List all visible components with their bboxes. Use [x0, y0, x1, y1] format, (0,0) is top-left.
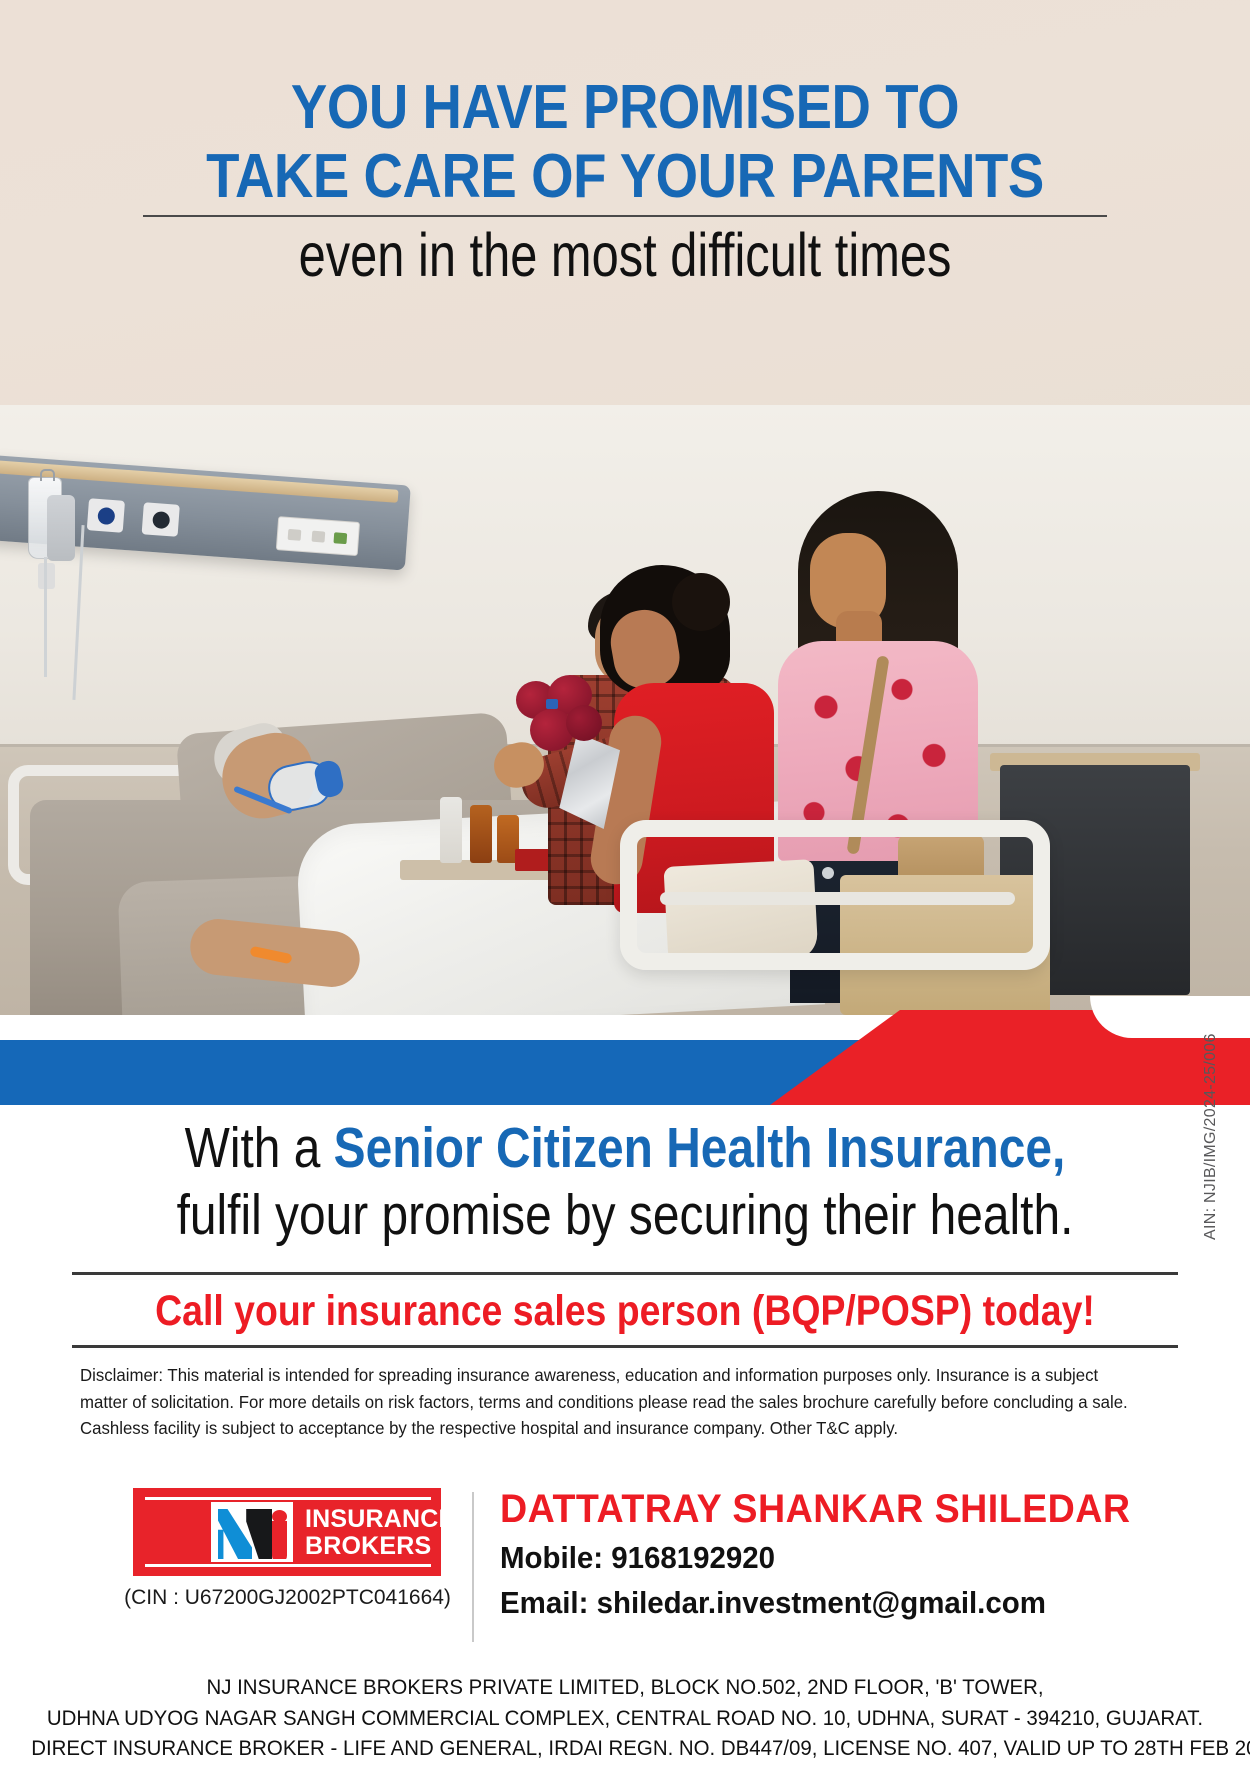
footer-line-2: UDHNA UDYOG NAGAR SANGH COMMERCIAL COMPL…: [31, 1703, 1219, 1734]
nj-insurance-brokers-logo: INSURANCE BROKERS: [133, 1488, 441, 1576]
brand-agent-divider: [472, 1492, 474, 1642]
agent-email[interactable]: Email: shiledar.investment@gmail.com: [500, 1585, 1046, 1621]
logo-wordmark-line-1: INSURANCE: [305, 1506, 435, 1533]
monogram-j-stem: [272, 1521, 287, 1559]
rose: [566, 705, 602, 741]
monogram-inner: [214, 1505, 290, 1559]
bed-rail-bar: [660, 892, 1015, 905]
message-divider-top: [72, 1272, 1178, 1275]
header-section: YOU HAVE PROMISED TO TAKE CARE OF YOUR P…: [0, 0, 1250, 452]
cin-number: (CIN : U67200GJ2002PTC041664): [110, 1586, 465, 1610]
logo-rule-top: [145, 1497, 431, 1500]
agent-mobile[interactable]: Mobile: 9168192920: [500, 1540, 775, 1576]
footer-line-3: DIRECT INSURANCE BROKER - LIFE AND GENER…: [31, 1733, 1219, 1764]
bouquet-ribbon: [546, 699, 558, 709]
headline-line-2: TAKE CARE OF YOUR PARENTS: [75, 143, 1175, 212]
message-line-1-prefix: With a: [185, 1116, 334, 1180]
message-line-2: fulfil your promise by securing their he…: [100, 1182, 1150, 1249]
subheadline: even in the most difficult times: [125, 219, 1125, 292]
logo-rule-bottom: [145, 1564, 431, 1567]
vacuum-port-icon: [142, 502, 180, 537]
disclaimer-text: Disclaimer: This material is intended fo…: [80, 1362, 1131, 1442]
message-line-1: With a Senior Citizen Health Insurance,: [100, 1115, 1150, 1182]
message-divider-bottom: [72, 1345, 1178, 1348]
logo-wordmark: INSURANCE BROKERS: [305, 1506, 435, 1559]
rose-bouquet-icon: [510, 675, 620, 787]
agent-email-value[interactable]: shiledar.investment@gmail.com: [597, 1585, 1046, 1620]
company-address-footer: NJ INSURANCE BROKERS PRIVATE LIMITED, BL…: [31, 1672, 1219, 1764]
agent-mobile-value[interactable]: 9168192920: [611, 1540, 775, 1575]
iv-tube: [44, 557, 47, 677]
insurance-poster: YOU HAVE PROMISED TO TAKE CARE OF YOUR P…: [0, 0, 1250, 1780]
girl-hair-bun: [672, 573, 730, 631]
call-to-action: Call your insurance sales person (BQP/PO…: [81, 1287, 1169, 1336]
ain-code: AIN: NJIB/IMG/2024-25/006: [1202, 1033, 1220, 1240]
nj-monogram-icon: [211, 1502, 293, 1562]
footer-line-1: NJ INSURANCE BROKERS PRIVATE LIMITED, BL…: [31, 1672, 1219, 1703]
logo-wordmark-line-2: BROKERS: [305, 1533, 435, 1560]
headline-divider: [143, 215, 1107, 217]
message-line-1-highlight: Senior Citizen Health Insurance,: [334, 1116, 1066, 1180]
oxygen-port-icon: [87, 498, 125, 533]
medicine-bottle: [470, 805, 492, 863]
agent-email-label: Email:: [500, 1585, 588, 1620]
agent-mobile-label: Mobile:: [500, 1540, 603, 1575]
message-section: With a Senior Citizen Health Insurance, …: [0, 1115, 1250, 1250]
power-socket-icon: [276, 516, 360, 556]
oxygen-regulator-icon: [47, 495, 75, 561]
color-banner: [0, 1010, 1250, 1105]
headline-line-1: YOU HAVE PROMISED TO: [75, 74, 1175, 143]
headline: YOU HAVE PROMISED TO TAKE CARE OF YOUR P…: [75, 74, 1175, 212]
medicine-bottle: [440, 797, 462, 863]
banner-white-notch: [1090, 996, 1250, 1038]
agent-name: DATTATRAY SHANKAR SHILEDAR: [500, 1487, 1131, 1532]
hospital-scene-photo: [0, 405, 1250, 1015]
